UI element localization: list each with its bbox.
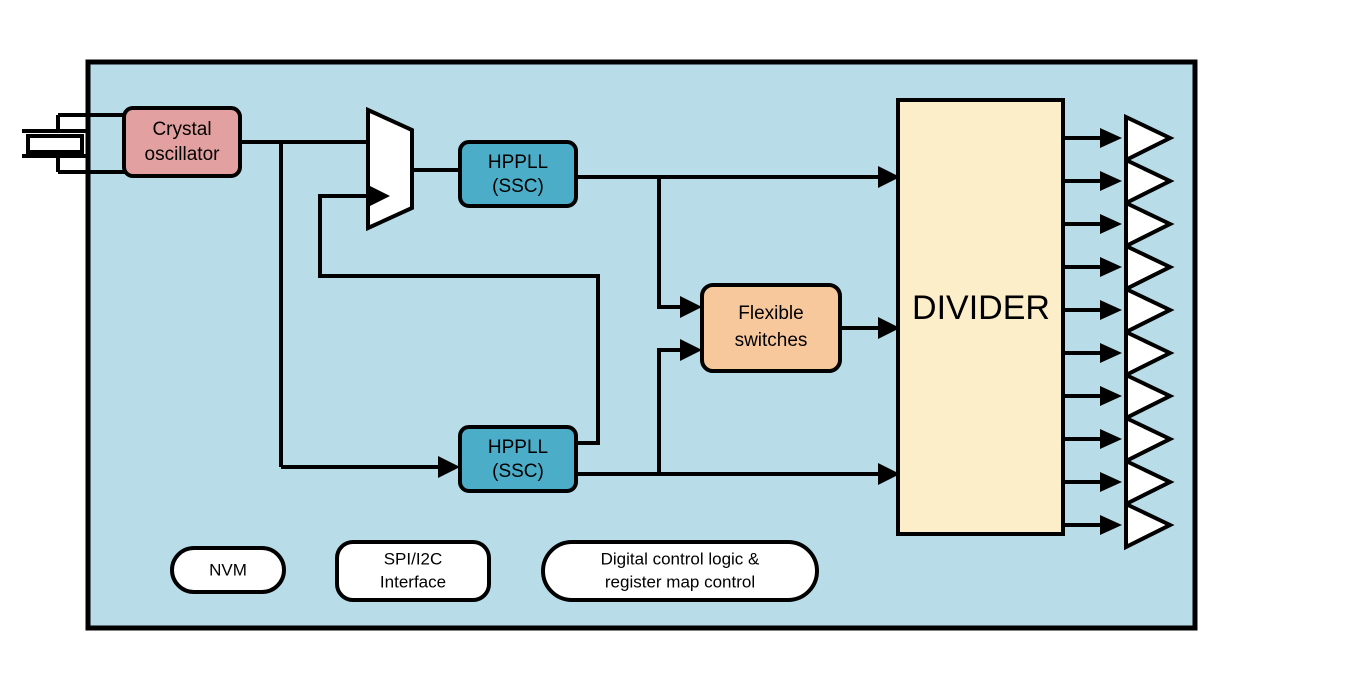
- spi-i2c-label-line1: SPI/I2C: [384, 549, 443, 568]
- flexible-switches-block[interactable]: Flexible switches: [702, 285, 840, 371]
- hppll-top-label-line1: HPPLL: [488, 152, 548, 173]
- digital-control-label-line2: register map control: [605, 572, 755, 591]
- hppll-bottom-label-line1: HPPLL: [488, 437, 548, 458]
- multiplexer-icon[interactable]: [368, 110, 412, 228]
- crystal-oscillator-label-line1: Crystal: [152, 119, 211, 140]
- nvm-label: NVM: [209, 560, 247, 579]
- hppll-bottom-label-line2: (SSC): [492, 461, 544, 482]
- spi-i2c-label-line2: Interface: [380, 572, 446, 591]
- divider-block[interactable]: DIVIDER: [898, 100, 1063, 534]
- nvm-block[interactable]: NVM: [172, 548, 284, 592]
- hppll-top-block[interactable]: HPPLL (SSC): [460, 142, 576, 206]
- crystal-oscillator-block[interactable]: Crystal oscillator: [124, 108, 240, 176]
- divider-label: DIVIDER: [912, 289, 1050, 327]
- hppll-top-label-line2: (SSC): [492, 176, 544, 197]
- crystal-oscillator-label-line2: oscillator: [145, 144, 221, 165]
- flexible-switches-label-line1: Flexible: [738, 303, 803, 324]
- digital-control-label-line1: Digital control logic &: [601, 549, 760, 568]
- flexible-switches-label-line2: switches: [735, 330, 808, 351]
- clock-generator-diagram: Crystal oscillator HPPLL (SSC): [0, 0, 1355, 685]
- digital-control-logic-block[interactable]: Digital control logic & register map con…: [543, 542, 817, 600]
- spi-i2c-interface-block[interactable]: SPI/I2C Interface: [337, 542, 489, 600]
- block-diagram-canvas: Crystal oscillator HPPLL (SSC): [0, 0, 1355, 685]
- hppll-bottom-block[interactable]: HPPLL (SSC): [460, 427, 576, 491]
